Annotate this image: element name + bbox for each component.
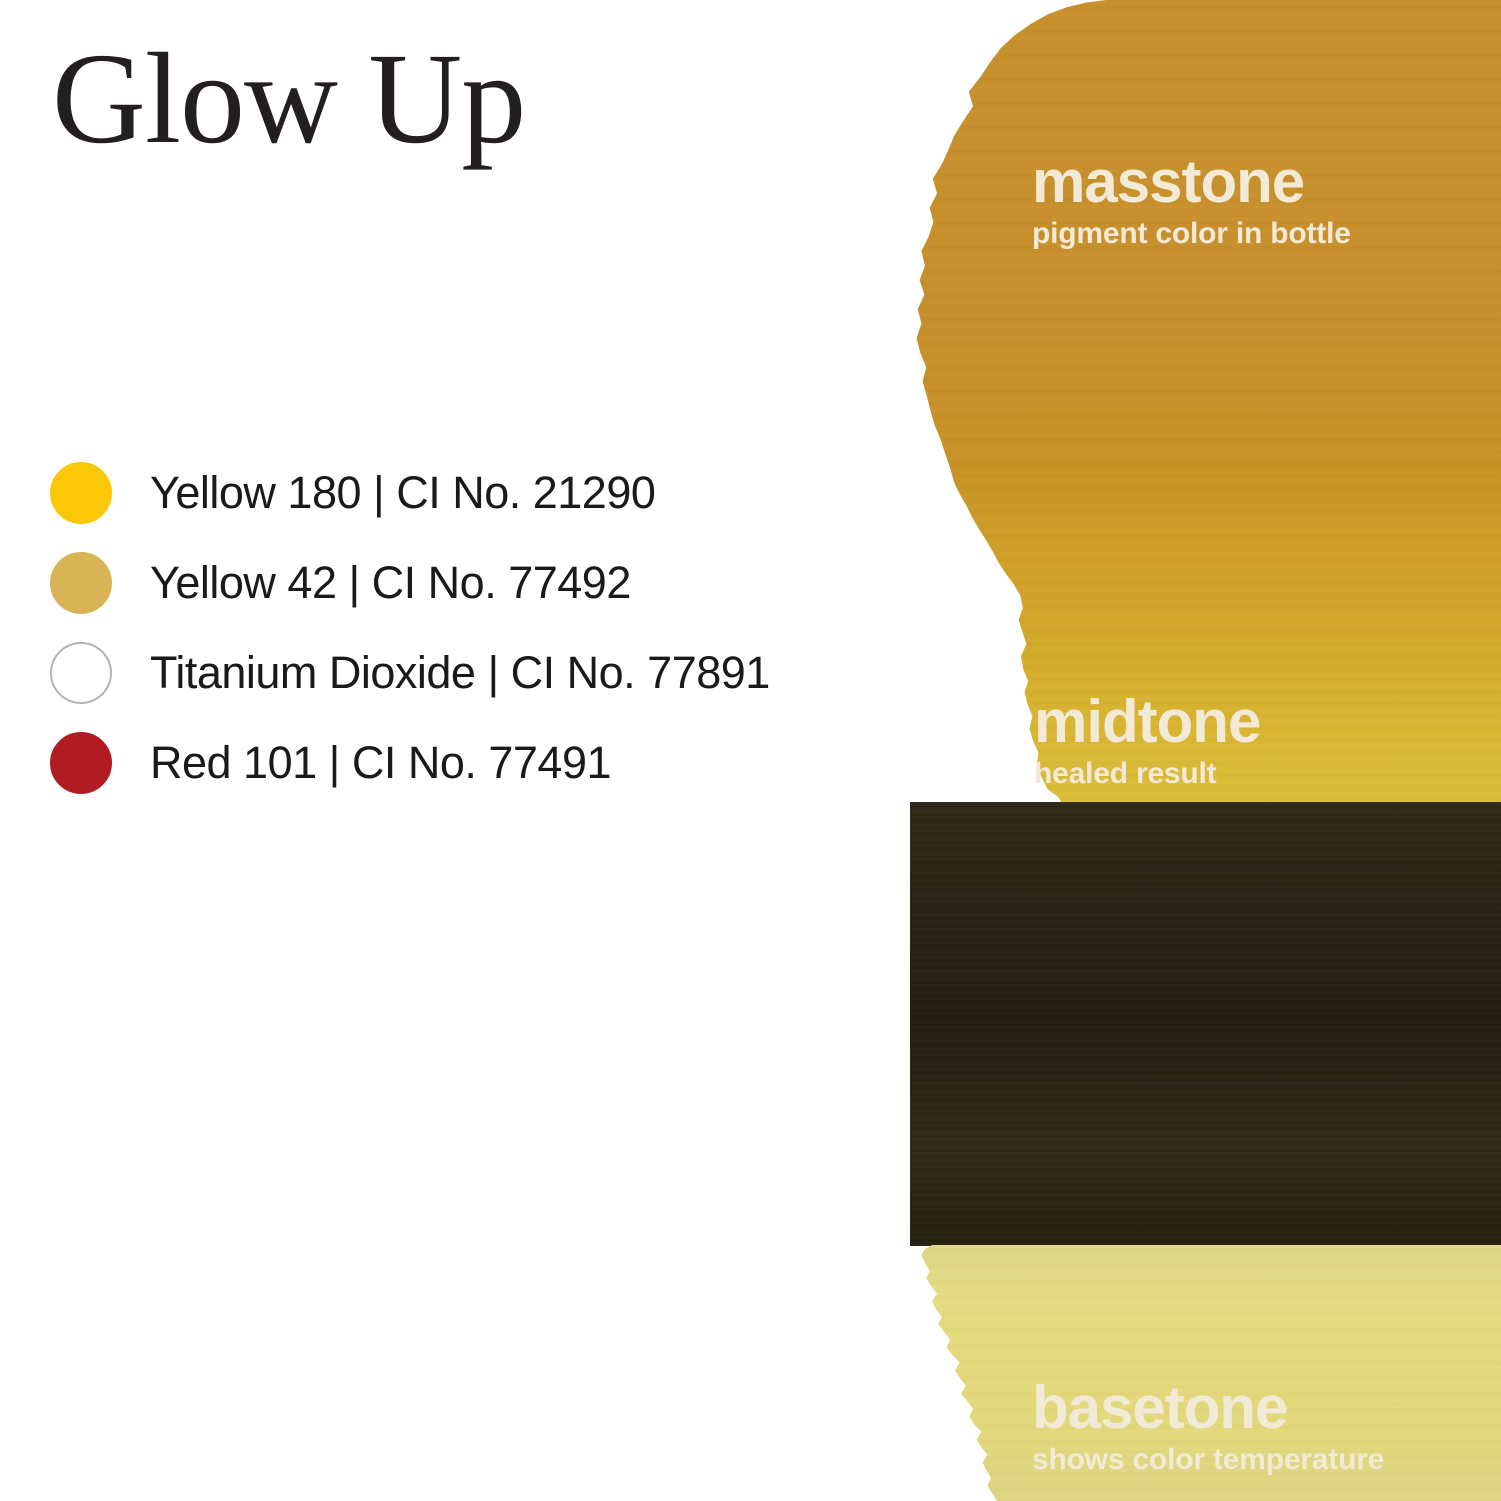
masstone-title: masstone <box>1032 152 1351 212</box>
masstone-subtitle: pigment color in bottle <box>1032 218 1351 250</box>
pigment-label: Titanium Dioxide | CI No. 77891 <box>150 647 770 699</box>
midtone-subtitle: healed result <box>1034 758 1260 790</box>
pigment-swatch-card: masstone pigment color in bottle midtone… <box>0 0 1501 1501</box>
midtone-title: midtone <box>1034 692 1260 752</box>
dark-undertone-band <box>910 802 1501 1246</box>
basetone-caption: basetone shows color temperature <box>1032 1378 1384 1476</box>
list-item: Titanium Dioxide | CI No. 77891 <box>50 628 870 718</box>
basetone-title: basetone <box>1032 1378 1384 1438</box>
list-item: Yellow 180 | CI No. 21290 <box>50 448 870 538</box>
masstone-caption: masstone pigment color in bottle <box>1032 152 1351 250</box>
basetone-subtitle: shows color temperature <box>1032 1444 1384 1476</box>
pigment-label: Yellow 42 | CI No. 77492 <box>150 557 631 609</box>
brush-texture-overlay <box>901 0 1501 805</box>
pigment-color-swatch <box>50 732 112 794</box>
pigment-label: Yellow 180 | CI No. 21290 <box>150 467 655 519</box>
pigment-label: Red 101 | CI No. 77491 <box>150 737 611 789</box>
pigment-color-swatch <box>50 642 112 704</box>
list-item: Yellow 42 | CI No. 77492 <box>50 538 870 628</box>
masstone-midtone-paint-stroke <box>901 0 1501 805</box>
midtone-caption: midtone healed result <box>1034 692 1260 790</box>
pigment-color-swatch <box>50 462 112 524</box>
pigment-color-swatch <box>50 552 112 614</box>
list-item: Red 101 | CI No. 77491 <box>50 718 870 808</box>
pigment-ingredient-list: Yellow 180 | CI No. 21290Yellow 42 | CI … <box>50 448 870 808</box>
page-title: Glow Up <box>52 34 525 164</box>
